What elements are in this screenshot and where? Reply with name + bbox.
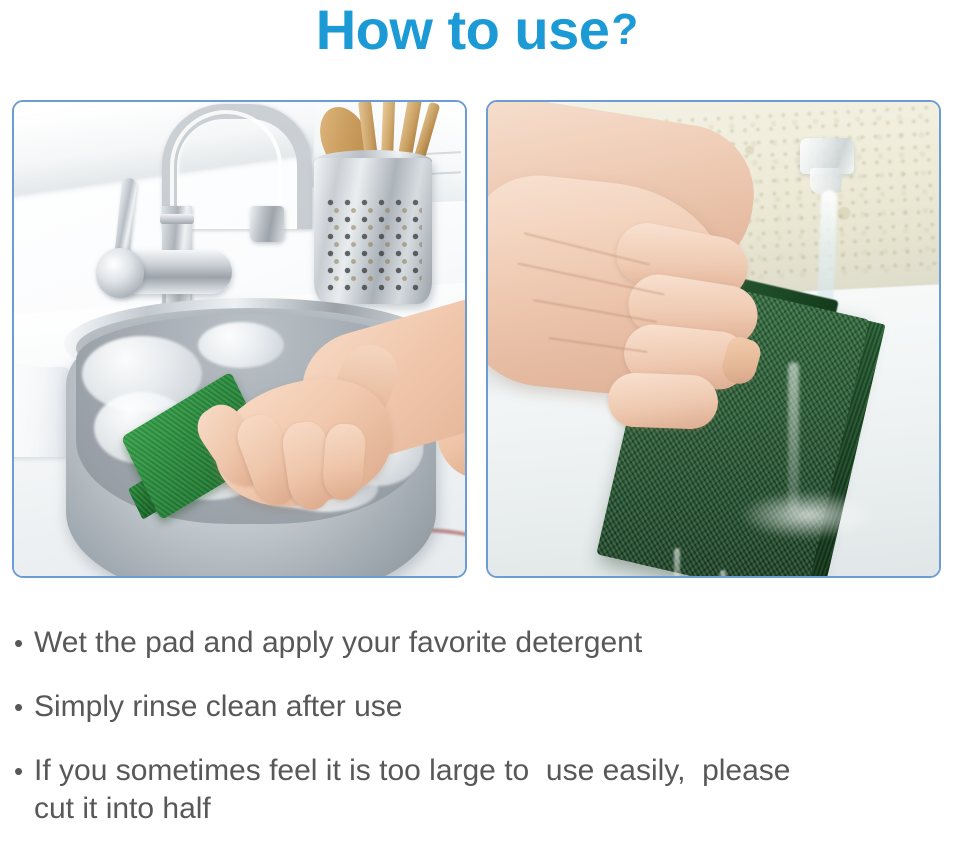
water-drip-icon	[674, 548, 680, 576]
panel-washing-pot	[12, 100, 467, 578]
rinsing-scene	[488, 102, 939, 576]
image-gallery	[12, 100, 942, 578]
bullet-dot-icon: •	[14, 624, 34, 662]
suds-icon	[198, 322, 284, 368]
faucet-knob-icon	[96, 248, 144, 298]
instruction-list: • Wet the pad and apply your favorite de…	[14, 624, 940, 828]
white-cup-icon	[14, 367, 72, 457]
finger-icon	[607, 372, 719, 430]
instruction-text: If you sometimes feel it is too large to…	[34, 752, 940, 828]
page-title: How to use	[316, 2, 610, 58]
water-splash-icon	[738, 490, 878, 540]
bullet-dot-icon: •	[14, 752, 34, 790]
list-item: • If you sometimes feel it is too large …	[14, 752, 940, 828]
kitchen-sink-scene	[14, 102, 465, 576]
instruction-text: Simply rinse clean after use	[34, 688, 940, 726]
faucet-nozzle-icon	[250, 206, 284, 242]
instruction-text: Wet the pad and apply your favorite dete…	[34, 624, 940, 662]
panel-washing-pot-image	[14, 102, 465, 576]
bullet-dot-icon: •	[14, 688, 34, 726]
page-header: How to use ?	[0, 0, 954, 92]
list-item: • Wet the pad and apply your favorite de…	[14, 624, 940, 662]
list-item: • Simply rinse clean after use	[14, 688, 940, 726]
faucet-highlight-icon	[170, 110, 282, 214]
panel-rinsing-pad	[486, 100, 941, 578]
faucet-ring-icon	[160, 214, 194, 224]
page-title-question-mark: ?	[611, 8, 638, 52]
water-drip-icon	[720, 570, 726, 576]
utensil-holder-holes-icon	[320, 194, 426, 294]
panel-rinsing-pad-image	[488, 102, 939, 576]
